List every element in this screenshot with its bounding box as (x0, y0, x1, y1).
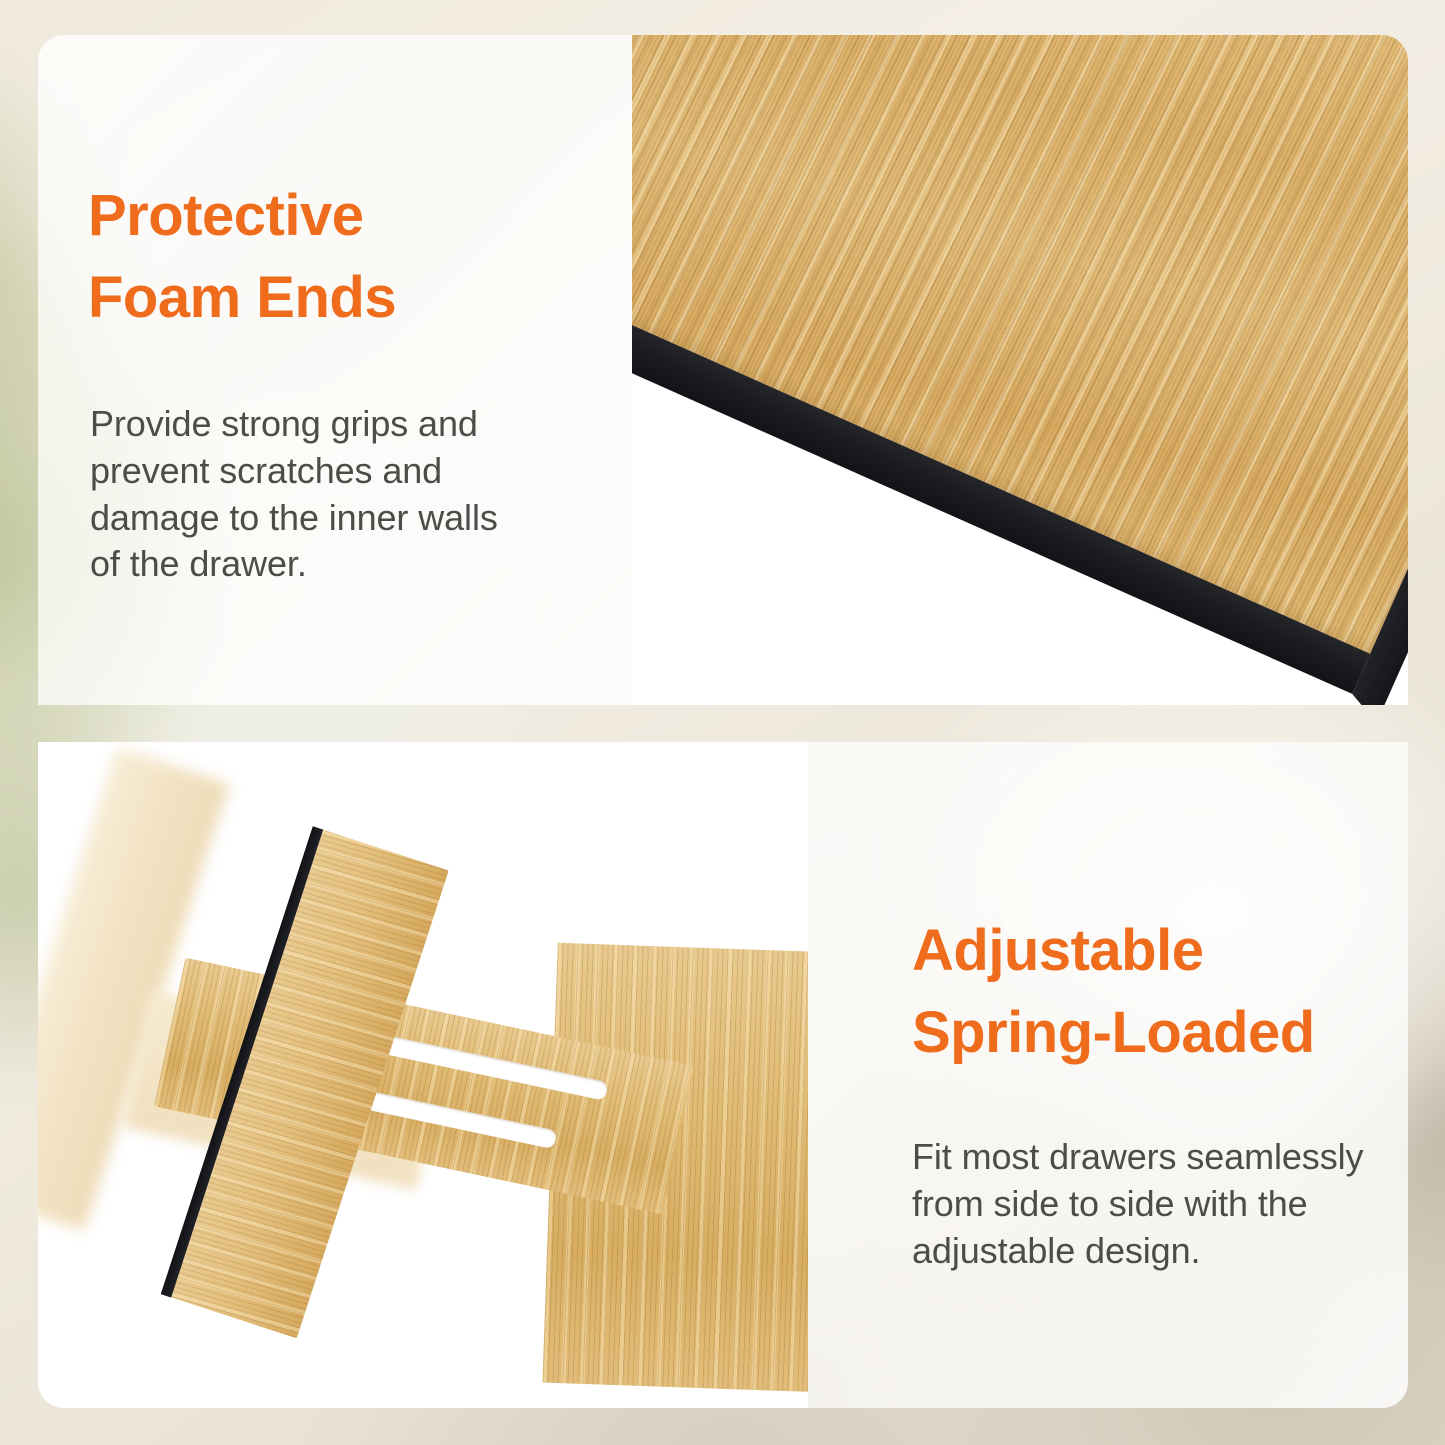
body-adjustable-spring-loaded: Fit most drawers seamlessly from side to… (912, 1134, 1408, 1274)
heading-adjustable-spring-loaded: Adjustable Spring-Loaded (912, 910, 1315, 1075)
heading-protective-foam-ends: Protective Foam Ends (88, 175, 396, 340)
panel-protective-foam-ends: Protective Foam Ends Provide strong grip… (38, 35, 632, 705)
bamboo-board (632, 35, 1408, 654)
rail-slot-upper (360, 1030, 608, 1101)
panel-bamboo-board-photo (632, 35, 1408, 705)
panel-drawer-divider-photo (38, 742, 808, 1408)
body-protective-foam-ends: Provide strong grips and prevent scratch… (90, 401, 590, 588)
infographic-stage: Protective Foam Ends Provide strong grip… (0, 0, 1445, 1445)
bamboo-board-image (632, 35, 1408, 705)
panel-grid: Protective Foam Ends Provide strong grip… (38, 35, 1408, 1408)
bamboo-board-face (632, 35, 1408, 654)
panel-adjustable-spring-loaded: Adjustable Spring-Loaded Fit most drawer… (808, 742, 1408, 1408)
drawer-divider-image (38, 742, 808, 1408)
